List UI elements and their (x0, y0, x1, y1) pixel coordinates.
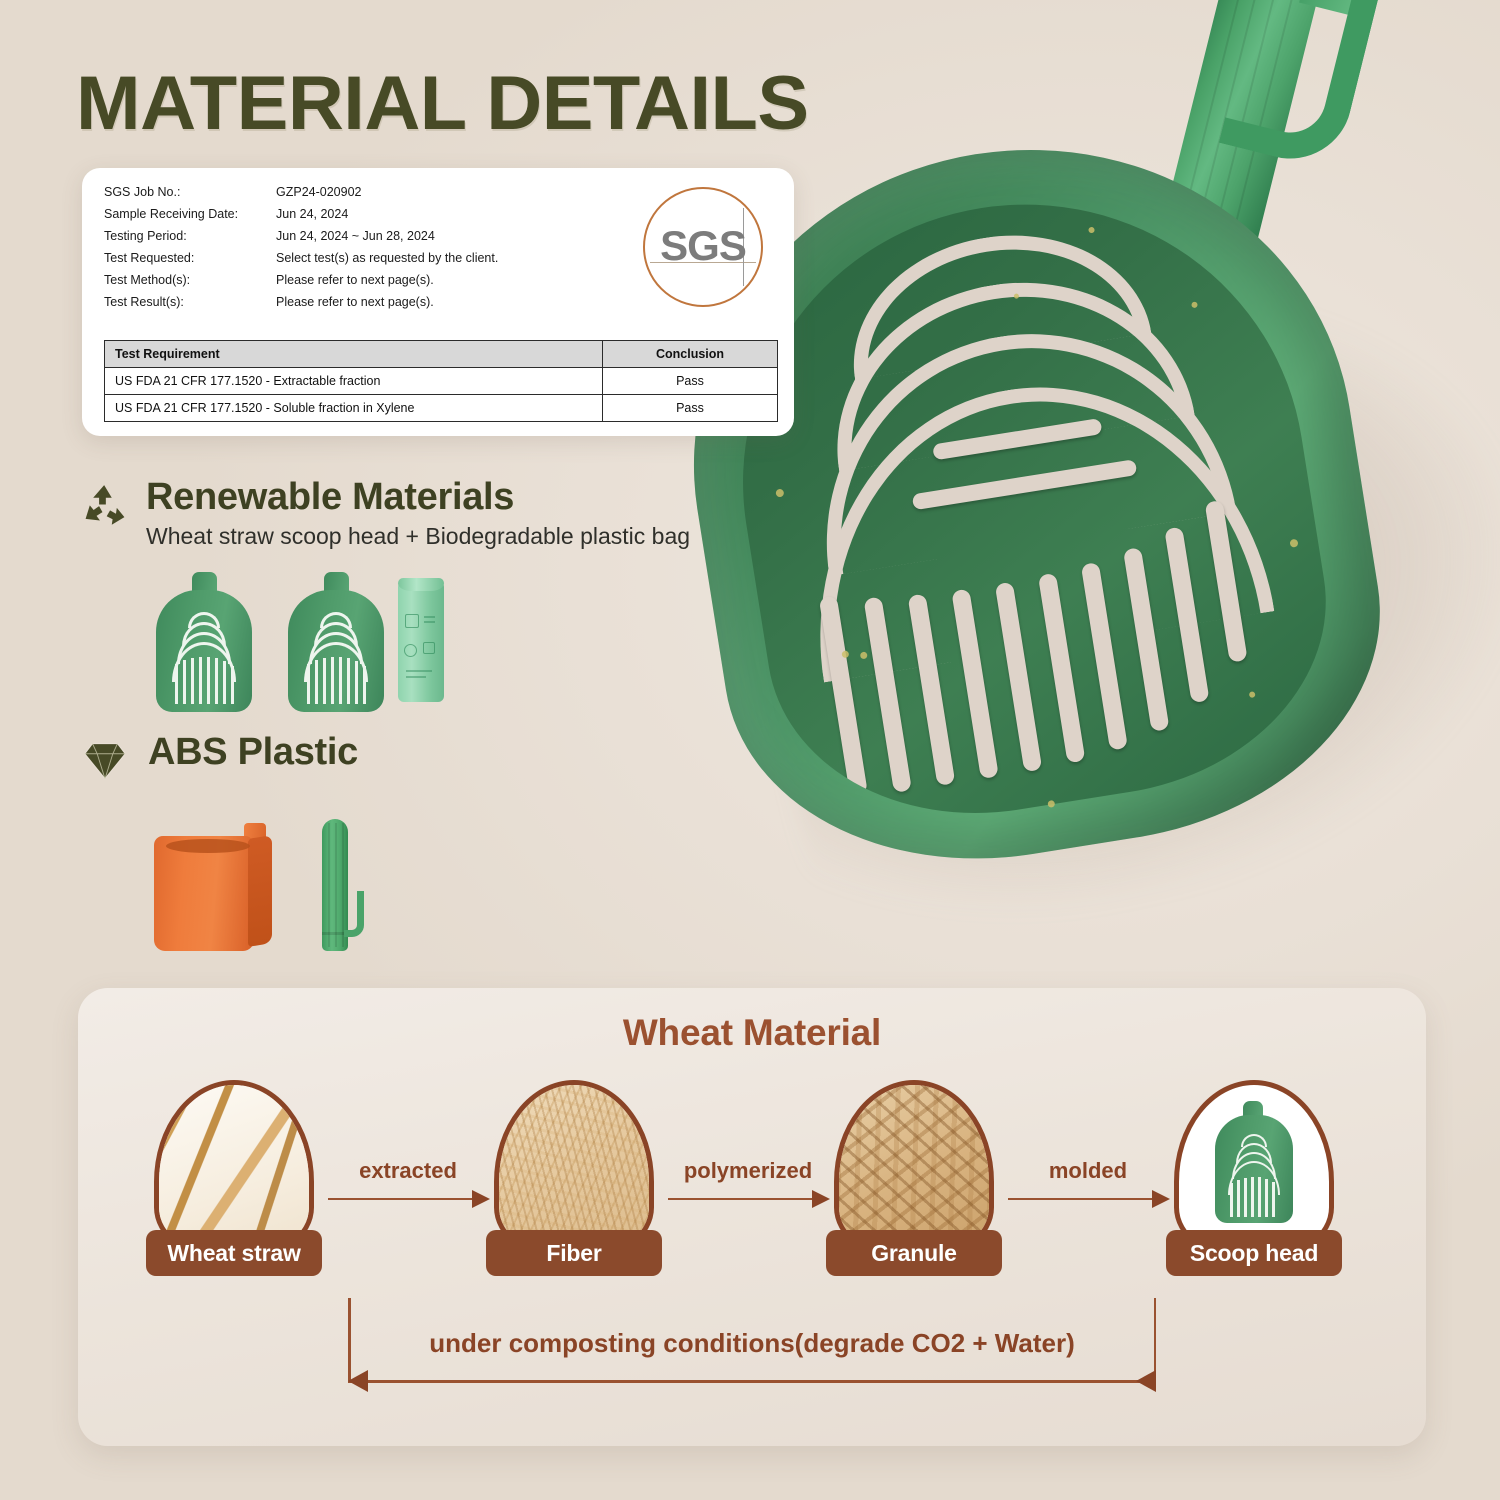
certificate-field: Sample Receiving Date: Jun 24, 2024 (104, 208, 624, 221)
cell-requirement: US FDA 21 CFR 177.1520 - Extractable fra… (105, 368, 603, 395)
certificate-field: Test Method(s): Please refer to next pag… (104, 274, 624, 287)
field-value: GZP24-020902 (276, 186, 624, 199)
flow-arrow-extracted (328, 1198, 488, 1200)
table-header-row: Test Requirement Conclusion (105, 341, 778, 368)
wheat-material-title: Wheat Material (78, 1012, 1426, 1054)
green-handle-stick (318, 819, 352, 951)
recycle-icon (78, 480, 132, 534)
scoop-head-illustration (1215, 1101, 1293, 1225)
table-row: US FDA 21 CFR 177.1520 - Extractable fra… (105, 368, 778, 395)
field-value: Please refer to next page(s). (276, 296, 624, 309)
certificate-field: Test Result(s): Please refer to next pag… (104, 296, 624, 309)
process-flow: Wheat straw extracted Fiber polymerized … (78, 1080, 1426, 1310)
return-arrowhead-right (1136, 1370, 1156, 1392)
test-results-table: Test Requirement Conclusion US FDA 21 CF… (104, 340, 778, 422)
wheat-material-panel: Wheat Material Wheat straw extracted Fib… (78, 988, 1426, 1446)
field-value: Jun 24, 2024 ~ Jun 28, 2024 (276, 230, 624, 243)
step-label: Wheat straw (146, 1230, 322, 1276)
field-label: Test Result(s): (104, 296, 276, 309)
sgs-logo: SGS (640, 184, 766, 310)
flow-arrow-label: extracted (328, 1158, 488, 1184)
column-header-conclusion: Conclusion (603, 341, 778, 368)
diamond-icon (80, 735, 134, 789)
scoop-head-thumbnail (156, 572, 252, 712)
certificate-field: SGS Job No.: GZP24-020902 (104, 186, 624, 199)
flow-arrow-label: polymerized (658, 1158, 838, 1184)
step-label: Scoop head (1166, 1230, 1342, 1276)
infographic-canvas: MATERIAL DETAILS (0, 0, 1500, 1500)
step-label: Fiber (486, 1230, 662, 1276)
biodegradable-bag-roll (398, 578, 444, 702)
cell-conclusion: Pass (603, 395, 778, 422)
flow-arrow-label: molded (1008, 1158, 1168, 1184)
scoop-head-thumbnail (288, 572, 384, 712)
column-header-requirement: Test Requirement (105, 341, 603, 368)
certificate-field: Testing Period: Jun 24, 2024 ~ Jun 28, 2… (104, 230, 624, 243)
feature-subtitle: Wheat straw scoop head + Biodegradable p… (146, 523, 690, 551)
cell-requirement: US FDA 21 CFR 177.1520 - Soluble fractio… (105, 395, 603, 422)
field-label: Test Method(s): (104, 274, 276, 287)
sgs-certificate-card: SGS Job No.: GZP24-020902 Sample Receivi… (82, 168, 794, 436)
abs-product-thumbnails (80, 805, 640, 960)
feature-title: Renewable Materials (146, 478, 690, 518)
field-label: Sample Receiving Date: (104, 208, 276, 221)
feature-abs-plastic: ABS Plastic (80, 733, 640, 960)
field-label: SGS Job No.: (104, 186, 276, 199)
flow-arrow-molded (1008, 1198, 1168, 1200)
certificate-field-list: SGS Job No.: GZP24-020902 Sample Receivi… (104, 186, 624, 309)
cell-conclusion: Pass (603, 368, 778, 395)
field-value: Please refer to next page(s). (276, 274, 624, 287)
field-label: Testing Period: (104, 230, 276, 243)
composting-note: under composting conditions(degrade CO2 … (78, 1328, 1426, 1359)
flow-arrow-polymerized (668, 1198, 828, 1200)
field-label: Test Requested: (104, 252, 276, 265)
sgs-logo-text: SGS (640, 222, 766, 270)
field-value: Select test(s) as requested by the clien… (276, 252, 624, 265)
renewable-product-thumbnails (78, 568, 778, 728)
step-label: Granule (826, 1230, 1002, 1276)
orange-holder-box (154, 823, 272, 951)
feature-title: ABS Plastic (148, 733, 358, 773)
certificate-field: Test Requested: Select test(s) as reques… (104, 252, 624, 265)
return-arrowhead-left (348, 1370, 368, 1392)
table-row: US FDA 21 CFR 177.1520 - Soluble fractio… (105, 395, 778, 422)
composting-return-path: under composting conditions(degrade CO2 … (78, 1306, 1426, 1426)
feature-renewable-materials: Renewable Materials Wheat straw scoop he… (78, 478, 778, 728)
field-value: Jun 24, 2024 (276, 208, 624, 221)
